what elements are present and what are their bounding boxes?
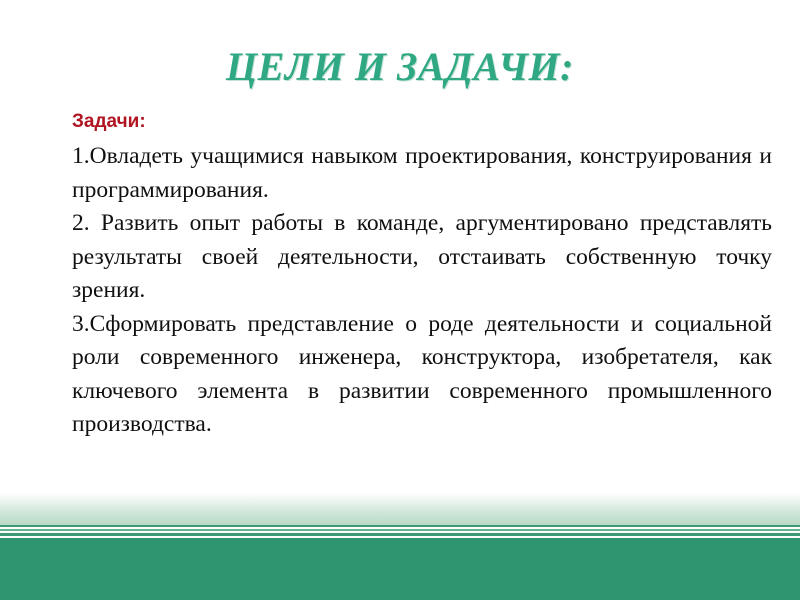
- section-subheading: Задачи:: [72, 108, 772, 135]
- footer-color-band: [0, 538, 800, 600]
- footer-gradient-fade: [0, 492, 800, 525]
- slide-title-area: ЦЕЛИ И ЗАДАЧИ:: [0, 44, 800, 90]
- presentation-slide: ЦЕЛИ И ЗАДАЧИ: Задачи: 1.Овладеть учащим…: [0, 0, 800, 600]
- objective-paragraph-1: 1.Овладеть учащимися навыком проектирова…: [72, 140, 772, 207]
- objective-paragraph-2: 2. Развить опыт работы в команде, аргуме…: [72, 207, 772, 308]
- objective-paragraph-3: 3.Сформировать представление о роде деят…: [72, 308, 772, 442]
- slide-body: Задачи: 1.Овладеть учащимися навыком про…: [72, 108, 772, 442]
- page-title: ЦЕЛИ И ЗАДАЧИ:: [226, 44, 574, 90]
